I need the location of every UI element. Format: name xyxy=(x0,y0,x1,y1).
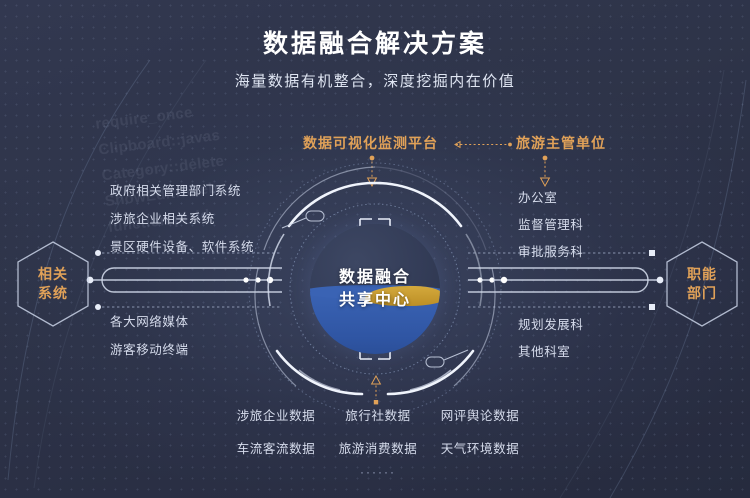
data-cell-1-1: 旅游消费数据 xyxy=(330,438,426,457)
right-item-3: 规划发展科 xyxy=(518,314,584,333)
infographic-canvas: require_once Clipboard::javas Category::… xyxy=(0,0,750,498)
label-tourism-authority: 旅游主管单位 xyxy=(516,133,606,153)
left-item-4: 游客移动终端 xyxy=(110,339,189,358)
page-title: 数据融合解决方案 xyxy=(0,24,750,60)
left-item-3: 各大网络媒体 xyxy=(110,311,189,330)
hexagon-left-line2: 系统 xyxy=(38,284,68,303)
label-visualization-platform: 数据可视化监测平台 xyxy=(303,133,438,153)
left-item-1: 涉旅企业相关系统 xyxy=(110,208,215,227)
data-fusion-center[interactable]: 数据融合 共享中心 xyxy=(244,158,506,420)
hexagon-functional-departments[interactable]: 职能 部门 xyxy=(663,239,741,329)
hexagon-right-line1: 职能 xyxy=(687,265,717,284)
hexagon-left-line1: 相关 xyxy=(38,265,68,284)
dotted-arrow-left-icon xyxy=(448,140,514,149)
right-item-2: 审批服务科 xyxy=(518,241,584,260)
right-item-0: 办公室 xyxy=(518,187,557,206)
data-row-1: 车流客流数据 旅游消费数据 天气环境数据 xyxy=(228,438,528,457)
sphere-line1: 数据融合 xyxy=(339,266,411,289)
data-cell-1-0: 车流客流数据 xyxy=(228,438,324,457)
sphere-line2: 共享中心 xyxy=(339,289,411,312)
hexagon-related-systems[interactable]: 相关 系统 xyxy=(14,239,92,329)
down-arrow-authority-icon xyxy=(539,155,551,189)
data-ellipsis: ······ xyxy=(228,465,528,479)
page-subtitle: 海量数据有机整合，深度挖掘内在价值 xyxy=(0,70,750,91)
right-item-1: 监督管理科 xyxy=(518,214,584,233)
left-item-0: 政府相关管理部门系统 xyxy=(110,180,241,199)
data-cell-1-2: 天气环境数据 xyxy=(432,438,528,457)
right-item-4: 其他科室 xyxy=(518,341,570,360)
left-item-2: 景区硬件设备、软件系统 xyxy=(110,236,254,255)
sphere-label: 数据融合 共享中心 xyxy=(244,158,506,420)
hexagon-right-line2: 部门 xyxy=(687,284,717,303)
